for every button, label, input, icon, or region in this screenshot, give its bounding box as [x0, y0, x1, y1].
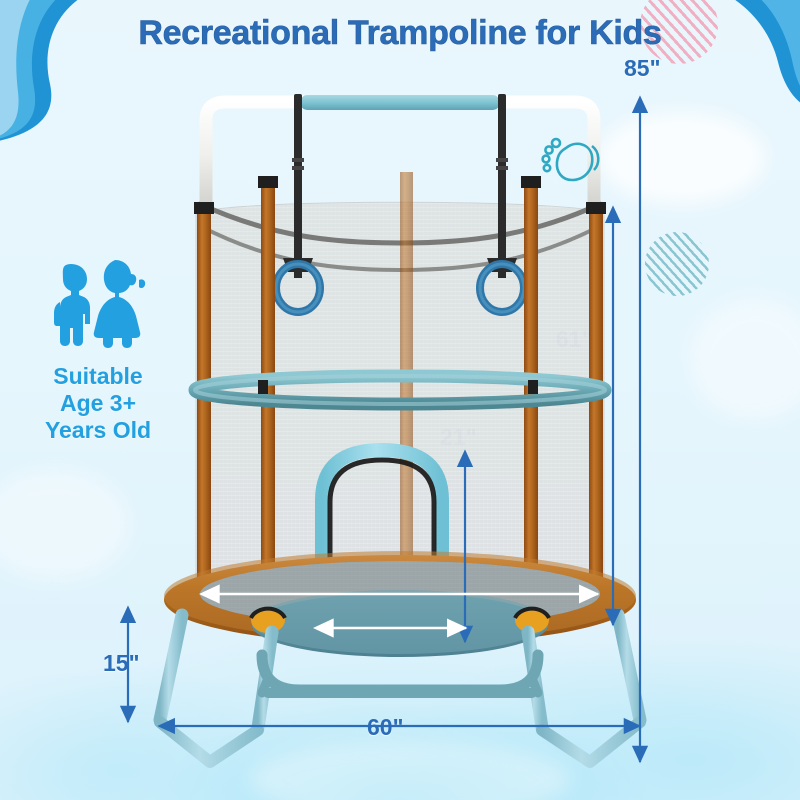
infographic-canvas: Recreational Trampoline for Kids Suitabl…: [0, 0, 800, 800]
dimension-annotations: [0, 0, 800, 800]
